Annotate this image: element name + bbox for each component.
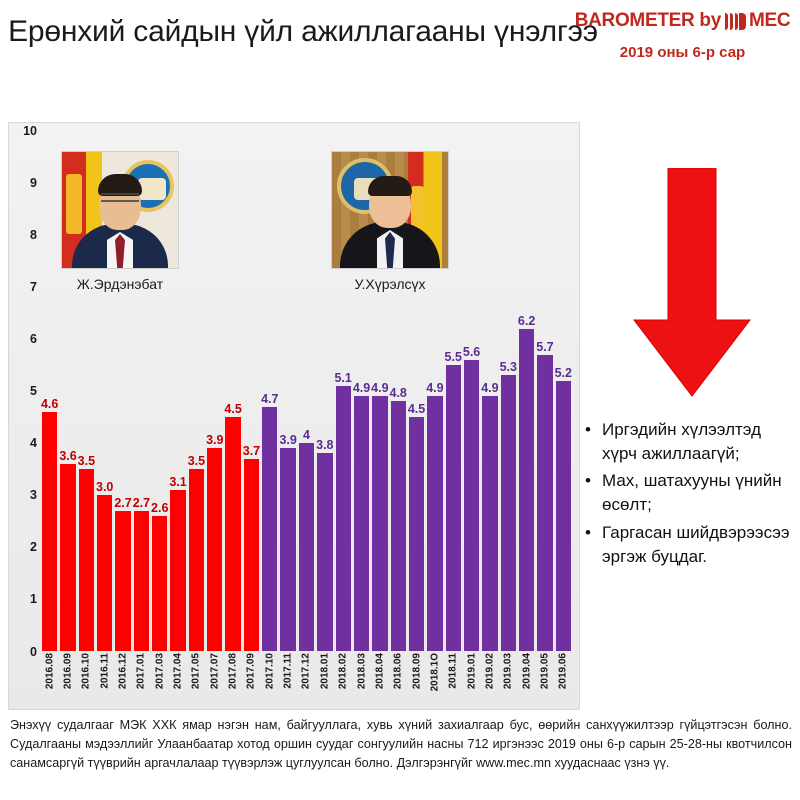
bar-value-label: 3.5 bbox=[78, 454, 95, 468]
page-title: Ерөнхий сайдын үйл ажиллагааны үнэлгээ bbox=[8, 12, 598, 53]
bar-value-label: 4.8 bbox=[390, 386, 407, 400]
x-axis-tick-label: 2017.12 bbox=[301, 653, 312, 689]
x-axis-tick: 2017.11 bbox=[280, 651, 295, 707]
x-axis-tick: 2018.01 bbox=[317, 651, 332, 707]
bar-value-label: 3.6 bbox=[59, 449, 76, 463]
x-axis-tick-label: 2018.09 bbox=[411, 653, 422, 689]
bar-value-label: 6.2 bbox=[518, 314, 535, 328]
x-axis-tick-label: 2018.03 bbox=[356, 653, 367, 689]
bar[interactable] bbox=[299, 443, 314, 651]
down-arrow-icon bbox=[628, 168, 756, 398]
bar-value-label: 3.7 bbox=[243, 444, 260, 458]
x-axis-tick-label: 2016.12 bbox=[118, 653, 129, 689]
bar-value-label: 4.9 bbox=[371, 381, 388, 395]
portrait-khurelsukh: У.Хүрэлсүх bbox=[331, 151, 449, 292]
x-axis: 2016.082016.092016.102016.112016.122017.… bbox=[42, 651, 571, 707]
bar-column[interactable]: 4.6 bbox=[42, 131, 57, 651]
x-axis-tick-label: 2019.01 bbox=[466, 653, 477, 689]
x-axis-tick: 2017.12 bbox=[299, 651, 314, 707]
y-axis-tick-8: 8 bbox=[9, 228, 37, 242]
bar-value-label: 4.5 bbox=[224, 402, 241, 416]
bar[interactable] bbox=[519, 329, 534, 651]
bar-column[interactable]: 5.3 bbox=[501, 131, 516, 651]
x-axis-tick: 2016.10 bbox=[79, 651, 94, 707]
x-axis-tick: 2017.01 bbox=[134, 651, 149, 707]
y-axis-tick-3: 3 bbox=[9, 488, 37, 502]
x-axis-tick: 2018.04 bbox=[372, 651, 387, 707]
bar[interactable] bbox=[189, 469, 204, 651]
bar[interactable] bbox=[501, 375, 516, 651]
x-axis-tick: 2018.02 bbox=[336, 651, 351, 707]
bar[interactable] bbox=[134, 511, 149, 651]
x-axis-tick-label: 2017.09 bbox=[246, 653, 257, 689]
x-axis-tick: 2019.02 bbox=[482, 651, 497, 707]
x-axis-tick-label: 2018.06 bbox=[393, 653, 404, 689]
x-axis-tick-label: 2019.06 bbox=[558, 653, 569, 689]
bar-value-label: 5.1 bbox=[334, 371, 351, 385]
slide-root: Ерөнхий сайдын үйл ажиллагааны үнэлгээ B… bbox=[0, 0, 800, 800]
bar[interactable] bbox=[537, 355, 552, 651]
bar[interactable] bbox=[464, 360, 479, 651]
bar[interactable] bbox=[409, 417, 424, 651]
bar-column[interactable]: 3.9 bbox=[207, 131, 222, 651]
bar-column[interactable]: 6.2 bbox=[519, 131, 534, 651]
bar-column[interactable]: 3.7 bbox=[244, 131, 259, 651]
methodology-note: Энэхүү судалгааг МЭК ХХК ямар нэгэн нам,… bbox=[10, 716, 792, 773]
bar-value-label: 4.9 bbox=[426, 381, 443, 395]
x-axis-tick-label: 2017.07 bbox=[209, 653, 220, 689]
y-axis-tick-1: 1 bbox=[9, 592, 37, 606]
bar-value-label: 5.7 bbox=[536, 340, 553, 354]
list-item: Мах, шатахууны үнийн өсөлт; bbox=[602, 469, 798, 517]
bar-value-label: 5.6 bbox=[463, 345, 480, 359]
bar-value-label: 3.1 bbox=[169, 475, 186, 489]
bar-value-label: 4.5 bbox=[408, 402, 425, 416]
bar-value-label: 2.7 bbox=[114, 496, 131, 510]
x-axis-tick-label: 2017.10 bbox=[264, 653, 275, 689]
x-axis-tick: 2019.03 bbox=[501, 651, 516, 707]
portrait-erdenebat: Ж.Эрдэнэбат bbox=[61, 151, 179, 292]
bar-value-label: 3.5 bbox=[188, 454, 205, 468]
bar-column[interactable]: 4.7 bbox=[262, 131, 277, 651]
bar[interactable] bbox=[372, 396, 387, 651]
x-axis-tick-label: 2017.11 bbox=[283, 653, 294, 689]
bar-value-label: 4.6 bbox=[41, 397, 58, 411]
bar[interactable] bbox=[60, 464, 75, 651]
bar-column[interactable]: 5.7 bbox=[537, 131, 552, 651]
x-axis-tick: 2017.08 bbox=[225, 651, 240, 707]
x-axis-tick-label: 2016.08 bbox=[44, 653, 55, 689]
x-axis-tick-label: 2019.05 bbox=[539, 653, 550, 689]
bar-value-label: 4.9 bbox=[353, 381, 370, 395]
x-axis-tick: 2017.07 bbox=[207, 651, 222, 707]
findings-list: Иргэдийн хүлээлтэд хүрч ажиллаагүй; Мах,… bbox=[580, 418, 798, 572]
x-axis-tick-label: 2019.03 bbox=[503, 653, 514, 689]
x-axis-tick: 2017.05 bbox=[189, 651, 204, 707]
x-axis-tick: 2018.1O bbox=[427, 651, 442, 707]
bar[interactable] bbox=[97, 495, 112, 651]
bar[interactable] bbox=[336, 386, 351, 651]
y-axis-tick-10: 10 bbox=[9, 124, 37, 138]
bar[interactable] bbox=[317, 453, 332, 651]
list-item: Гаргасан шийдвэрээсээ эргэж буцдаг. bbox=[602, 521, 798, 569]
x-axis-tick-label: 2019.02 bbox=[484, 653, 495, 689]
bar[interactable] bbox=[79, 469, 94, 651]
bar-value-label: 5.5 bbox=[445, 350, 462, 364]
bar[interactable] bbox=[244, 459, 259, 651]
bar-value-label: 4 bbox=[303, 428, 310, 442]
bar-value-label: 3.9 bbox=[279, 433, 296, 447]
bar[interactable] bbox=[115, 511, 130, 651]
list-item: Иргэдийн хүлээлтэд хүрч ажиллаагүй; bbox=[602, 418, 798, 466]
y-axis-tick-2: 2 bbox=[9, 540, 37, 554]
report-date: 2019 оны 6-р сар bbox=[565, 44, 800, 61]
bar[interactable] bbox=[42, 412, 57, 651]
bar-value-label: 2.6 bbox=[151, 501, 168, 515]
bar-value-label: 2.7 bbox=[133, 496, 150, 510]
x-axis-tick-label: 2016.11 bbox=[99, 653, 110, 689]
brand-suffix-text: MEC bbox=[749, 10, 790, 32]
bullet-list: Иргэдийн хүлээлтэд хүрч ажиллаагүй; Мах,… bbox=[580, 418, 798, 569]
y-axis-tick-7: 7 bbox=[9, 280, 37, 294]
bar[interactable] bbox=[427, 396, 442, 651]
x-axis-tick: 2018.09 bbox=[409, 651, 424, 707]
bar-value-label: 3.0 bbox=[96, 480, 113, 494]
x-axis-tick: 2017.09 bbox=[244, 651, 259, 707]
bar-value-label: 5.2 bbox=[555, 366, 572, 380]
bar-value-label: 3.8 bbox=[316, 438, 333, 452]
bar-column[interactable]: 5.2 bbox=[556, 131, 571, 651]
x-axis-tick-label: 2017.03 bbox=[154, 653, 165, 689]
x-axis-tick-label: 2018.1O bbox=[429, 653, 440, 691]
y-axis-tick-0: 0 bbox=[9, 645, 37, 659]
y-axis-tick-6: 6 bbox=[9, 332, 37, 346]
y-axis-tick-4: 4 bbox=[9, 436, 37, 450]
x-axis-tick-label: 2018.11 bbox=[448, 653, 459, 689]
x-axis-tick-label: 2018.01 bbox=[319, 653, 330, 689]
bar-column[interactable]: 3.5 bbox=[189, 131, 204, 651]
bar[interactable] bbox=[482, 396, 497, 651]
y-axis-tick-9: 9 bbox=[9, 176, 37, 190]
x-axis-tick: 2018.06 bbox=[391, 651, 406, 707]
x-axis-tick-label: 2017.05 bbox=[191, 653, 202, 689]
bar[interactable] bbox=[170, 490, 185, 651]
x-axis-tick: 2019.04 bbox=[519, 651, 534, 707]
bar-value-label: 4.9 bbox=[481, 381, 498, 395]
bar-column[interactable]: 4.5 bbox=[225, 131, 240, 651]
x-axis-tick-label: 2018.02 bbox=[338, 653, 349, 689]
bar[interactable] bbox=[556, 381, 571, 651]
bar[interactable] bbox=[225, 417, 240, 651]
bar[interactable] bbox=[354, 396, 369, 651]
bar-value-label: 5.3 bbox=[500, 360, 517, 374]
x-axis-tick: 2017.04 bbox=[170, 651, 185, 707]
bar[interactable] bbox=[262, 407, 277, 651]
x-axis-tick: 2018.11 bbox=[446, 651, 461, 707]
bar-column[interactable]: 4 bbox=[299, 131, 314, 651]
x-axis-tick: 2017.10 bbox=[262, 651, 277, 707]
x-axis-tick: 2016.12 bbox=[115, 651, 130, 707]
x-axis-tick: 2018.03 bbox=[354, 651, 369, 707]
mec-logo-icon bbox=[724, 13, 746, 30]
x-axis-tick: 2016.11 bbox=[97, 651, 112, 707]
portrait-name: У.Хүрэлсүх bbox=[331, 276, 449, 292]
x-axis-tick: 2019.01 bbox=[464, 651, 479, 707]
bar-chart: 12345678910 4.63.63.53.02.72.72.63.13.53… bbox=[8, 122, 580, 710]
x-axis-tick-label: 2017.08 bbox=[228, 653, 239, 689]
x-axis-tick: 2019.05 bbox=[537, 651, 552, 707]
portrait-name: Ж.Эрдэнэбат bbox=[61, 276, 179, 292]
x-axis-tick: 2016.09 bbox=[60, 651, 75, 707]
brand-block: BAROMETER by MEC 2019 оны 6-р сар bbox=[565, 10, 800, 61]
x-axis-tick-label: 2017.01 bbox=[136, 653, 147, 689]
x-axis-tick-label: 2018.04 bbox=[374, 653, 385, 689]
x-axis-tick-label: 2016.10 bbox=[81, 653, 92, 689]
x-axis-tick-label: 2019.04 bbox=[521, 653, 532, 689]
x-axis-tick: 2016.08 bbox=[42, 651, 57, 707]
bar[interactable] bbox=[207, 448, 222, 651]
bar-column[interactable]: 3.9 bbox=[280, 131, 295, 651]
brand-logo: BAROMETER by MEC bbox=[565, 10, 800, 32]
y-axis-tick-5: 5 bbox=[9, 384, 37, 398]
bar[interactable] bbox=[152, 516, 167, 651]
bar[interactable] bbox=[280, 448, 295, 651]
bar-column[interactable]: 5.6 bbox=[464, 131, 479, 651]
portrait-photo bbox=[61, 151, 179, 269]
portrait-photo bbox=[331, 151, 449, 269]
bar-value-label: 4.7 bbox=[261, 392, 278, 406]
bar-value-label: 3.9 bbox=[206, 433, 223, 447]
bar[interactable] bbox=[391, 401, 406, 651]
x-axis-tick-label: 2016.09 bbox=[63, 653, 74, 689]
x-axis-tick: 2017.03 bbox=[152, 651, 167, 707]
bar-column[interactable]: 4.9 bbox=[482, 131, 497, 651]
brand-name-text: BAROMETER by bbox=[575, 10, 721, 32]
bar[interactable] bbox=[446, 365, 461, 651]
x-axis-tick: 2019.06 bbox=[556, 651, 571, 707]
x-axis-tick-label: 2017.04 bbox=[173, 653, 184, 689]
